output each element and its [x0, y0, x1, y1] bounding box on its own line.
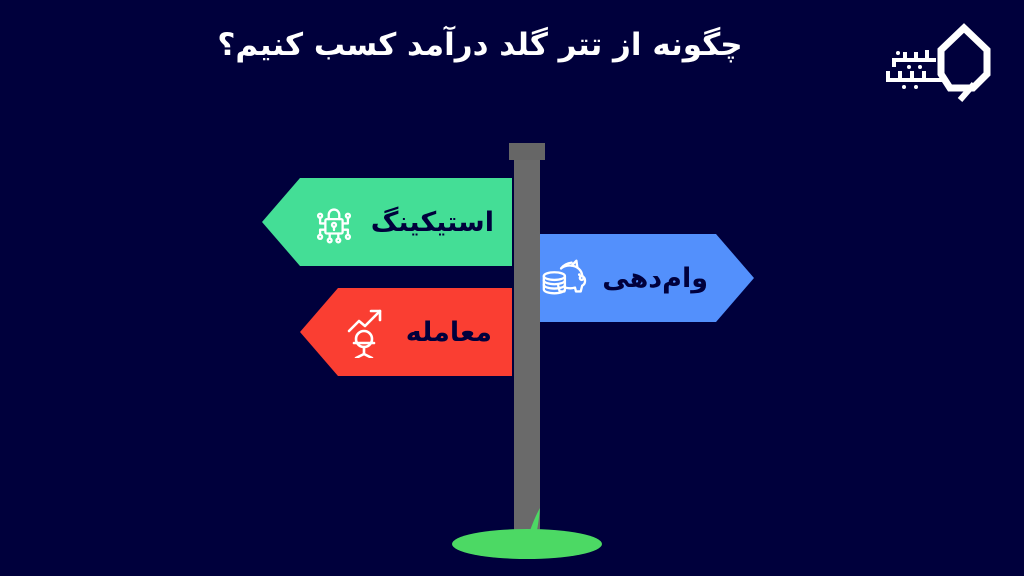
sign-lending-body: وام‌دهی — [534, 234, 754, 322]
sign-trading-label: معامله — [406, 317, 492, 348]
signpost-pole-cap — [509, 143, 545, 160]
sign-staking-label: استیکینگ — [371, 207, 494, 238]
sign-lending[interactable]: وام‌دهی — [534, 234, 754, 322]
sign-staking-content: استیکینگ — [262, 178, 512, 266]
khane-sarmaye-logo — [878, 22, 998, 104]
sign-trading[interactable]: معامله — [300, 288, 512, 376]
piggy-bank-coins-icon — [538, 255, 588, 301]
sign-lending-label: وام‌دهی — [602, 263, 708, 294]
infographic-canvas: چگونه از تتر گلد درآمد کسب کنیم؟ — [0, 0, 1024, 576]
sign-lending-content: وام‌دهی — [534, 234, 754, 322]
sign-staking-body: استیکینگ — [262, 178, 512, 266]
person-trend-arrow-icon — [342, 306, 390, 358]
sign-staking[interactable]: استیکینگ — [262, 178, 512, 266]
padlock-network-icon — [311, 199, 357, 245]
sign-trading-body: معامله — [300, 288, 512, 376]
grass-base — [452, 500, 602, 576]
page-title: چگونه از تتر گلد درآمد کسب کنیم؟ — [150, 26, 810, 65]
sign-trading-content: معامله — [300, 288, 512, 376]
signpost-pole — [514, 160, 540, 532]
